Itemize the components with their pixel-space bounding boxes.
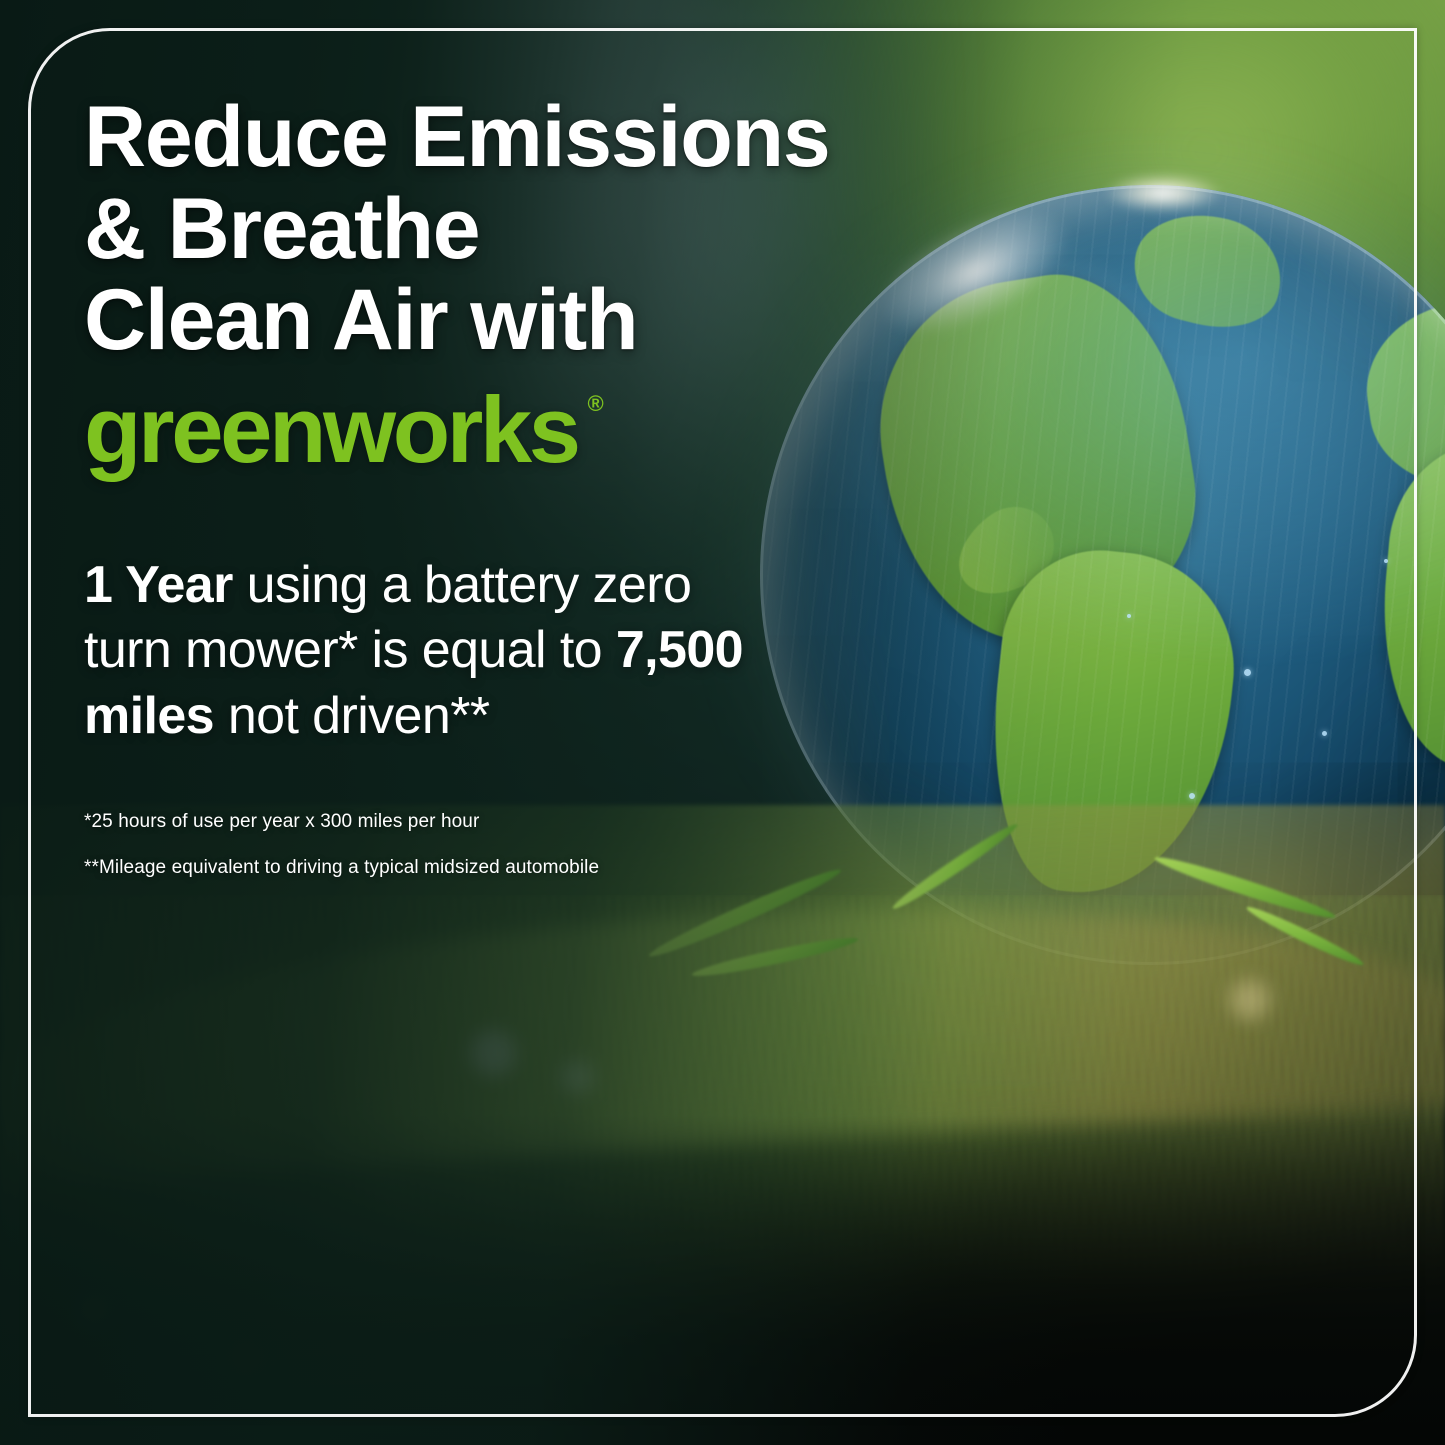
footnotes: *25 hours of use per year x 300 miles pe… — [84, 811, 844, 879]
page-title: Reduce Emissions & Breathe Clean Air wit… — [84, 92, 844, 367]
footnote-item: **Mileage equivalent to driving a typica… — [84, 857, 844, 879]
registered-trademark-icon: ® — [587, 393, 603, 415]
footnote-item: *25 hours of use per year x 300 miles pe… — [84, 811, 844, 833]
subheadline-lead: 1 Year — [84, 556, 233, 614]
banner-content: Reduce Emissions & Breathe Clean Air wit… — [84, 92, 844, 903]
marketing-banner: Reduce Emissions & Breathe Clean Air wit… — [0, 0, 1445, 1445]
greenworks-logo: greenworks ® — [84, 383, 578, 477]
subheadline-part2: not driven** — [214, 687, 489, 745]
brand-wordmark: greenworks — [84, 377, 578, 482]
subheadline: 1 Year using a battery zero turn mower* … — [84, 553, 784, 750]
